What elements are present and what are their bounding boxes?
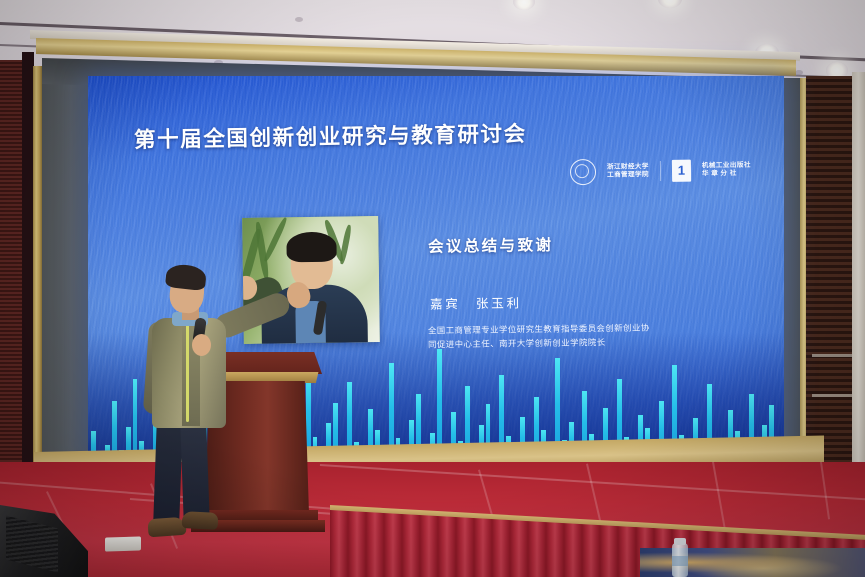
conference-stage-photo: 第十届全国创新创业研究与教育研讨会 浙江财经大学 工商管理学院 机械工业出版社 … <box>0 0 865 577</box>
portrait-hair <box>286 232 336 263</box>
gold-trim-left <box>33 66 42 518</box>
floor-seam-vertical <box>712 462 726 531</box>
door-handle-icon[interactable] <box>812 354 856 357</box>
speaker-leg-left <box>153 420 183 525</box>
floor-seam-vertical <box>820 462 830 520</box>
speaker-shoe-left <box>147 517 186 538</box>
seal-emblem-icon <box>570 159 596 185</box>
logo-divider <box>660 161 661 181</box>
water-bottle-label <box>672 556 688 566</box>
slide-title: 第十届全国创新创业研究与教育研讨会 <box>134 117 527 154</box>
stone-column-right <box>852 72 865 522</box>
logo-1-text: 浙江财经大学 工商管理学院 <box>607 163 649 180</box>
book-number-one-icon <box>672 160 691 182</box>
water-bottle-cap <box>674 538 686 545</box>
logo-1-line2: 工商管理学院 <box>607 171 649 180</box>
ceiling-fixture-icon <box>795 70 803 75</box>
slide-subtitle: 会议总结与致谢 <box>428 233 554 257</box>
white-object-on-floor <box>105 536 141 551</box>
speaker-leg-right <box>180 420 210 525</box>
slide-guest-name: 嘉宾 张玉利 <box>430 292 522 312</box>
speaker-jacket-zipper <box>186 322 189 422</box>
slide-description: 全国工商管理专业学位研究生教育指导委员会创新创业协 同促进中心主任、南开大学创新… <box>428 320 650 351</box>
speaker-hand-holding-mic <box>192 334 211 356</box>
door-handle-icon[interactable] <box>812 394 852 397</box>
logo-2-line2: 华 章 分 社 <box>702 170 751 179</box>
logo-2-line1: 机械工业出版社 <box>702 161 751 170</box>
speaker-shoe-right <box>182 511 219 530</box>
slide-logo-row: 浙江财经大学 工商管理学院 机械工业出版社 华 章 分 社 <box>570 157 751 186</box>
speaker-portrait-photo <box>242 216 380 344</box>
logo-2-text: 机械工业出版社 华 章 分 社 <box>702 161 751 178</box>
ceiling-fixture-icon <box>295 17 303 22</box>
